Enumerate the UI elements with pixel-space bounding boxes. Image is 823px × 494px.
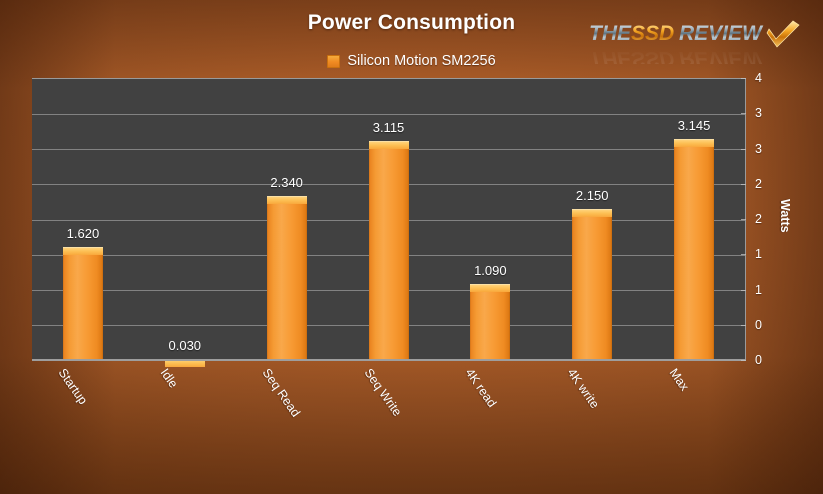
bar-seq-read[interactable]: 2.340 (267, 79, 307, 361)
logo-text-review: REVIEW (679, 22, 764, 45)
bar-rect[interactable] (674, 139, 714, 361)
svg-text:SSD: SSD (631, 47, 674, 64)
y-tick-label: 1 (755, 247, 762, 261)
y-tick-mark (741, 254, 746, 255)
y-tick-label: 2 (755, 212, 762, 226)
bar-value-label: 0.030 (169, 338, 202, 353)
bar-4k-write[interactable]: 2.150 (572, 79, 612, 361)
legend-swatch-icon (327, 55, 340, 68)
bar-rect[interactable] (267, 196, 307, 361)
bar-seq-write[interactable]: 3.115 (369, 79, 409, 361)
bar-rect[interactable] (572, 209, 612, 361)
y-tick-mark (741, 360, 746, 361)
x-axis: StartupIdleSeq ReadSeq Write4K read4K wr… (32, 362, 745, 422)
bar-value-label: 2.150 (576, 188, 609, 203)
y-tick-mark (741, 219, 746, 220)
logo-reflection: THE SSD REVIEW (589, 47, 764, 64)
x-axis-baseline (32, 359, 746, 361)
bar-value-label: 1.620 (67, 226, 100, 241)
x-tick-label: Startup (55, 366, 90, 407)
y-tick-label: 1 (755, 283, 762, 297)
bar-value-label: 2.340 (270, 175, 303, 190)
x-tick-label: Idle (157, 366, 180, 391)
power-consumption-chart: Power Consumption Silicon Motion SM2256 (0, 0, 823, 494)
y-tick-mark (741, 149, 746, 150)
x-tick-label: 4K read (463, 366, 500, 410)
svg-text:REVIEW: REVIEW (679, 47, 764, 64)
x-tick-label: Seq Read (259, 366, 302, 420)
logo-text-ssd: SSD (631, 22, 674, 45)
y-tick-label: 4 (755, 71, 762, 85)
bar-value-label: 3.145 (678, 118, 711, 133)
y-tick-label: 3 (755, 106, 762, 120)
y-tick-label: 2 (755, 177, 762, 191)
x-tick-label: 4K write (565, 366, 602, 411)
y-tick-mark (741, 113, 746, 114)
x-tick-label: Max (667, 366, 692, 393)
plot-area: 1.6200.0302.3403.1151.0902.1503.145 (32, 78, 746, 361)
y-tick-mark (741, 325, 746, 326)
logo-check-icon (767, 21, 799, 47)
logo-text-the: THE (589, 22, 632, 45)
y-tick-label: 3 (755, 142, 762, 156)
the-ssd-review-logo[interactable]: THE SSD REVIEW THE SSD REVIEW (587, 16, 809, 64)
svg-text:THE: THE (589, 47, 632, 64)
y-tick-mark (741, 78, 746, 79)
y-axis-title: Watts (778, 199, 792, 233)
bar-startup[interactable]: 1.620 (63, 79, 103, 361)
y-tick-label: 0 (755, 318, 762, 332)
bar-max[interactable]: 3.145 (674, 79, 714, 361)
bar-4k-read[interactable]: 1.090 (470, 79, 510, 361)
bars-layer: 1.6200.0302.3403.1151.0902.1503.145 (32, 79, 745, 361)
bar-rect[interactable] (63, 247, 103, 361)
bar-idle[interactable]: 0.030 (165, 79, 205, 361)
x-tick-label: Seq Write (361, 366, 404, 419)
y-tick-label: 0 (755, 353, 762, 367)
bar-rect[interactable] (369, 141, 409, 361)
bar-value-label: 3.115 (373, 120, 405, 135)
y-tick-mark (741, 184, 746, 185)
bar-value-label: 1.090 (474, 263, 507, 278)
y-tick-mark (741, 290, 746, 291)
bar-rect[interactable] (470, 284, 510, 361)
legend-label: Silicon Motion SM2256 (347, 53, 495, 69)
